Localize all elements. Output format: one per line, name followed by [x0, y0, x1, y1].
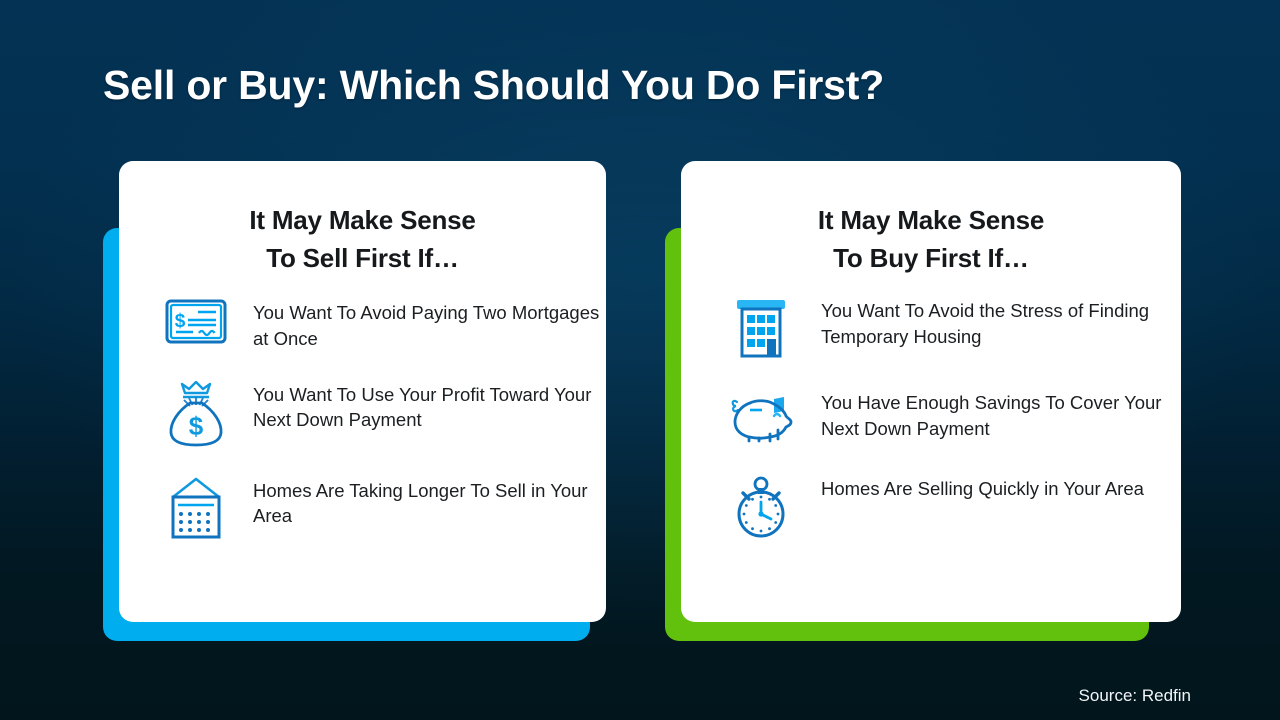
card-sell-first: It May Make Sense To Sell First If… $: [103, 161, 607, 641]
card-heading-buy-line1: It May Make Sense: [681, 202, 1181, 240]
list-item: You Have Enough Savings To Cover Your Ne…: [681, 389, 1181, 443]
list-item: $ You Want To Avoid Paying Two Mortgages…: [119, 299, 606, 351]
slide-canvas: Sell or Buy: Which Should You Do First? …: [0, 0, 1280, 720]
card-heading-buy-line2: To Buy First If…: [681, 240, 1181, 278]
list-item-label: Homes Are Taking Longer To Sell in Your …: [229, 477, 606, 529]
card-heading-buy: It May Make Sense To Buy First If…: [681, 161, 1181, 277]
page-title: Sell or Buy: Which Should You Do First?: [103, 62, 884, 109]
svg-text:$: $: [175, 311, 186, 332]
card-sell-item-list: $ You Want To Avoid Paying Two Mortgages…: [119, 299, 606, 539]
card-surface-buy: It May Make Sense To Buy First If…: [681, 161, 1181, 622]
list-item: You Want To Avoid the Stress of Finding …: [681, 297, 1181, 359]
list-item-label: You Want To Avoid the Stress of Finding …: [794, 297, 1181, 349]
card-heading-sell-line2: To Sell First If…: [119, 240, 606, 278]
list-item-label: You Have Enough Savings To Cover Your Ne…: [794, 389, 1181, 441]
card-heading-sell-line1: It May Make Sense: [119, 202, 606, 240]
list-item-label: Homes Are Selling Quickly in Your Area: [794, 475, 1144, 501]
check-payment-icon: $: [163, 299, 229, 344]
list-item: Homes Are Selling Quickly in Your Area: [681, 475, 1181, 539]
stopwatch-icon: [728, 475, 794, 539]
list-item: $ You Want To Use Your Profit Toward You…: [119, 381, 606, 447]
list-item: Homes Are Taking Longer To Sell in Your …: [119, 477, 606, 539]
card-surface-sell: It May Make Sense To Sell First If… $: [119, 161, 606, 622]
source-attribution: Source: Redfin: [1079, 686, 1191, 706]
svg-text:$: $: [189, 411, 204, 441]
piggy-bank-icon: [728, 389, 794, 443]
money-bag-icon: $: [163, 381, 229, 447]
apartment-building-icon: [728, 297, 794, 359]
list-item-label: You Want To Use Your Profit Toward Your …: [229, 381, 606, 433]
card-buy-first: It May Make Sense To Buy First If…: [665, 161, 1167, 641]
list-item-label: You Want To Avoid Paying Two Mortgages a…: [229, 299, 606, 351]
house-calendar-icon: [163, 477, 229, 539]
card-heading-sell: It May Make Sense To Sell First If…: [119, 161, 606, 277]
card-buy-item-list: You Want To Avoid the Stress of Finding …: [681, 297, 1181, 539]
